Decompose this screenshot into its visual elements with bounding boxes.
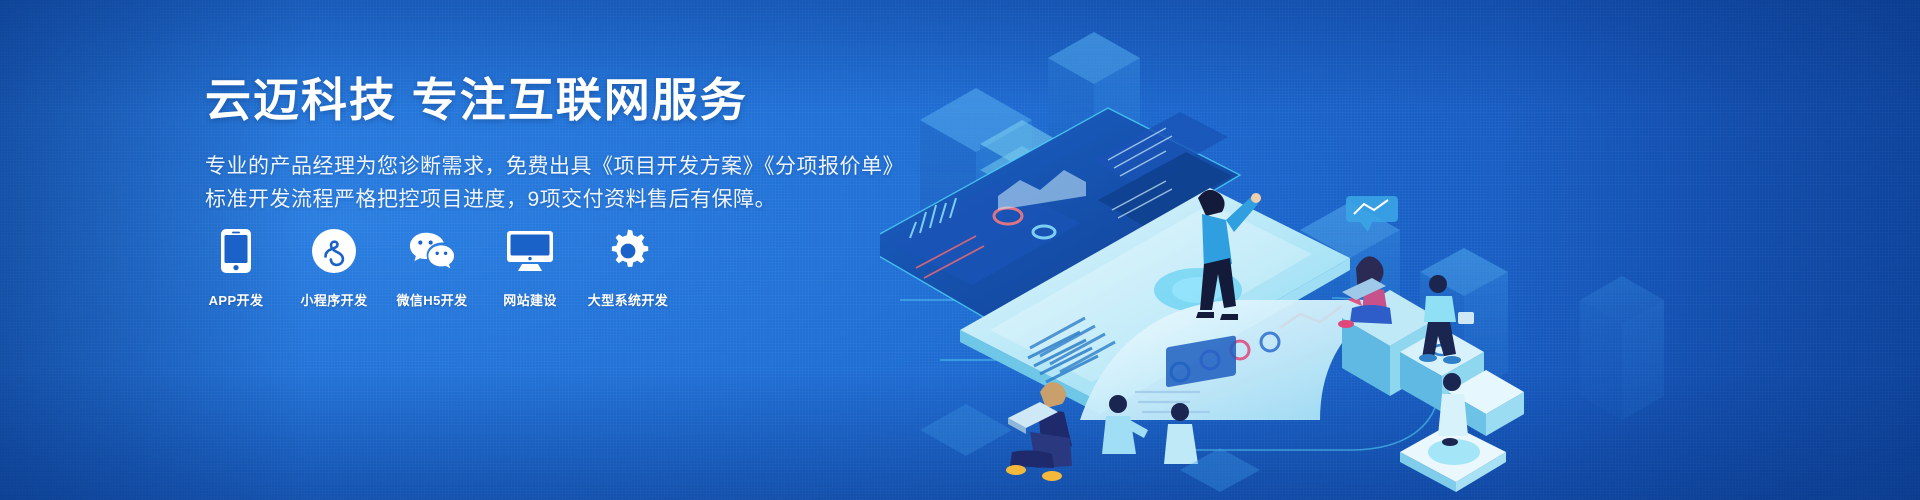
banner-subtitle: 专业的产品经理为您诊断需求，免费出具《项目开发方案》《分项报价单》 标准开发流程… [205, 150, 905, 216]
service-label: 微信H5开发 [396, 290, 467, 309]
mobile-phone-icon [213, 228, 259, 274]
page-title: 云迈科技 专注互联网服务 [205, 72, 905, 128]
isometric-tech-dashboard-illustration [880, 0, 1920, 500]
subtitle-line-1: 专业的产品经理为您诊断需求，免费出具《项目开发方案》《分项报价单》 [205, 150, 905, 183]
monitor-icon [507, 228, 553, 274]
service-label: 大型系统开发 [588, 290, 668, 309]
mini-program-icon [311, 228, 357, 274]
service-item-large-system[interactable]: 大型系统开发 [592, 228, 664, 309]
subtitle-line-2: 标准开发流程严格把控项目进度，9项交付资料售后有保障。 [205, 183, 905, 216]
service-label: 网站建设 [503, 290, 557, 309]
service-item-website[interactable]: 网站建设 [494, 228, 566, 309]
service-list: APP开发 小程序开发 微信 [200, 228, 664, 309]
wechat-icon [409, 228, 455, 274]
service-label: 小程序开发 [300, 290, 367, 309]
gear-icon [605, 228, 651, 274]
service-item-wechat-h5[interactable]: 微信H5开发 [396, 228, 468, 309]
service-item-app[interactable]: APP开发 [200, 228, 272, 309]
promo-banner: 云迈科技 专注互联网服务 专业的产品经理为您诊断需求，免费出具《项目开发方案》《… [0, 0, 1920, 500]
service-item-miniprogram[interactable]: 小程序开发 [298, 228, 370, 309]
service-label: APP开发 [209, 290, 264, 309]
banner-text-block: 云迈科技 专注互联网服务 专业的产品经理为您诊断需求，免费出具《项目开发方案》《… [205, 72, 905, 216]
